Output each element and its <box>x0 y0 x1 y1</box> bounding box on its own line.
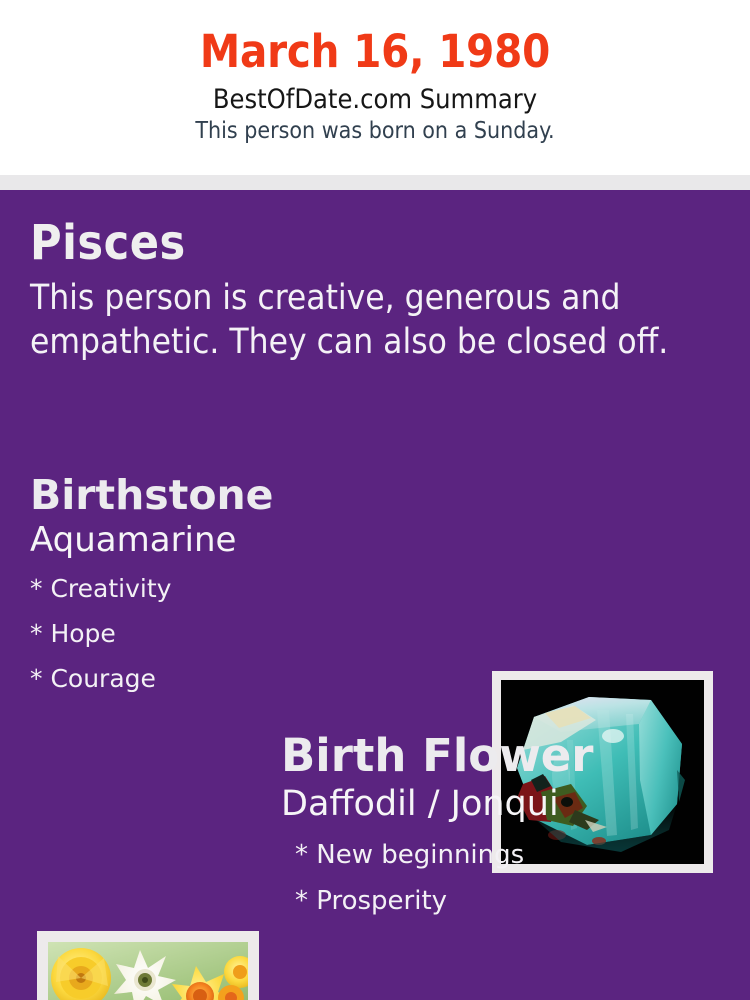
birth-flower-image-frame <box>37 931 259 1000</box>
infographic-page: March 16, 1980 BestOfDate.com Summary Th… <box>0 0 750 1000</box>
birth-flower-heading: Birth Flower <box>281 730 741 782</box>
daffodil-flowers-icon <box>48 942 248 1000</box>
list-item: * Hope <box>30 611 480 656</box>
zodiac-description: This person is creative, generous and em… <box>30 270 710 364</box>
list-item: * Creativity <box>30 566 480 611</box>
birth-flower-section: Birth Flower Daffodil / Jonqui * New beg… <box>281 730 741 924</box>
page-title-date: March 16, 1980 <box>0 0 750 78</box>
birthstone-traits-list: * Creativity * Hope * Courage <box>30 560 480 701</box>
list-item: * New beginnings <box>295 832 741 878</box>
zodiac-section: Pisces This person is creative, generous… <box>30 216 720 364</box>
zodiac-sign-name: Pisces <box>30 216 720 270</box>
site-name: BestOfDate.com Summary <box>0 78 750 115</box>
birth-flower-image <box>48 942 248 1000</box>
header: March 16, 1980 BestOfDate.com Summary Th… <box>0 0 750 175</box>
birthstone-section: Birthstone Aquamarine * Creativity * Hop… <box>30 472 480 701</box>
summary-panel: Pisces This person is creative, generous… <box>0 190 750 1000</box>
list-item: * Courage <box>30 656 480 701</box>
birthstone-name: Aquamarine <box>30 519 480 560</box>
header-divider <box>0 175 750 190</box>
list-item: * Prosperity <box>295 878 741 924</box>
birthstone-heading: Birthstone <box>30 472 480 519</box>
birth-weekday-note: This person was born on a Sunday. <box>0 115 750 145</box>
birth-flower-traits-list: * New beginnings * Prosperity <box>281 825 741 924</box>
birth-flower-name: Daffodil / Jonqui <box>281 782 741 825</box>
